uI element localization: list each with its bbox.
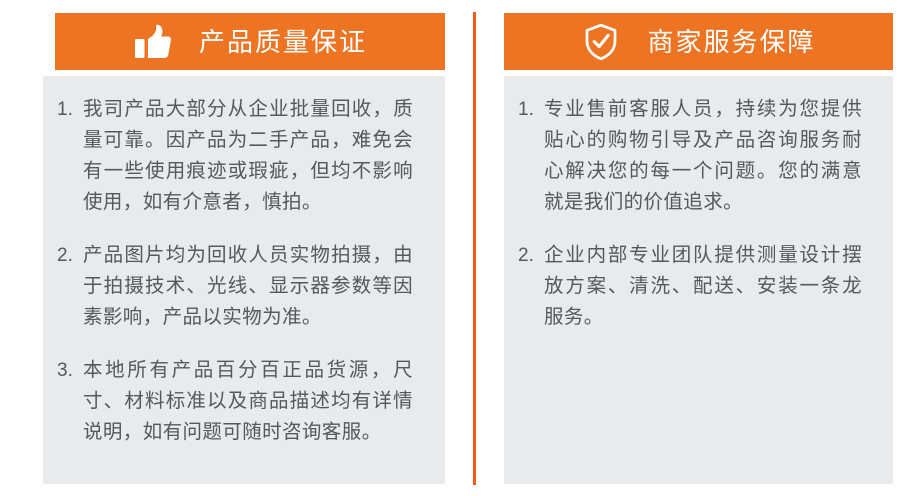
list-item: 2. 企业内部专业团队提供测量设计摆放方案、清洗、配送、安装一条龙服务。 — [518, 240, 879, 333]
clause-text: 产品图片均为回收人员实物拍摄，由于拍摄技术、光线、显示器参数等因素影响，产品以实… — [83, 240, 413, 333]
clause-number: 1. — [57, 94, 83, 125]
panel-title: 商家服务保障 — [647, 29, 815, 55]
panel-title: 产品质量保证 — [199, 29, 367, 55]
clause-text: 专业售前客服人员，持续为您提供贴心的购物引导及产品咨询服务耐心解决您的每一个问题… — [544, 94, 862, 218]
list-item: 1. 我司产品大部分从企业批量回收，质量可靠。因产品为二手产品，难免会有一些使用… — [57, 94, 431, 218]
panel-header-merchant-service: 商家服务保障 — [504, 13, 893, 70]
panel-body-product-quality: 1. 我司产品大部分从企业批量回收，质量可靠。因产品为二手产品，难免会有一些使用… — [43, 76, 445, 484]
panel-body-merchant-service: 1. 专业售前客服人员，持续为您提供贴心的购物引导及产品咨询服务耐心解决您的每一… — [504, 76, 893, 484]
clause-number: 1. — [518, 94, 544, 125]
clause-list-product-quality: 1. 我司产品大部分从企业批量回收，质量可靠。因产品为二手产品，难免会有一些使用… — [57, 94, 431, 448]
clause-number: 3. — [57, 355, 83, 386]
vertical-divider — [473, 12, 476, 485]
list-item: 3. 本地所有产品百分百正品货源，尺寸、材料标准以及商品描述均有详情说明，如有问… — [57, 355, 431, 448]
panel-header-product-quality: 产品质量保证 — [55, 13, 445, 70]
clause-text: 我司产品大部分从企业批量回收，质量可靠。因产品为二手产品，难免会有一些使用痕迹或… — [83, 94, 413, 218]
list-item: 1. 专业售前客服人员，持续为您提供贴心的购物引导及产品咨询服务耐心解决您的每一… — [518, 94, 879, 218]
shield-check-icon — [581, 22, 621, 62]
guarantee-banner: 产品质量保证 1. 我司产品大部分从企业批量回收，质量可靠。因产品为二手产品，难… — [0, 0, 921, 496]
thumbs-up-icon — [133, 22, 173, 62]
clause-text: 企业内部专业团队提供测量设计摆放方案、清洗、配送、安装一条龙服务。 — [544, 240, 862, 333]
panel-merchant-service-guarantee: 商家服务保障 1. 专业售前客服人员，持续为您提供贴心的购物引导及产品咨询服务耐… — [504, 0, 893, 496]
clause-text: 本地所有产品百分百正品货源，尺寸、材料标准以及商品描述均有详情说明，如有问题可随… — [83, 355, 413, 448]
list-item: 2. 产品图片均为回收人员实物拍摄，由于拍摄技术、光线、显示器参数等因素影响，产… — [57, 240, 431, 333]
clause-number: 2. — [57, 240, 83, 271]
clause-number: 2. — [518, 240, 544, 271]
panel-product-quality-guarantee: 产品质量保证 1. 我司产品大部分从企业批量回收，质量可靠。因产品为二手产品，难… — [43, 0, 445, 496]
clause-list-merchant-service: 1. 专业售前客服人员，持续为您提供贴心的购物引导及产品咨询服务耐心解决您的每一… — [518, 94, 879, 333]
